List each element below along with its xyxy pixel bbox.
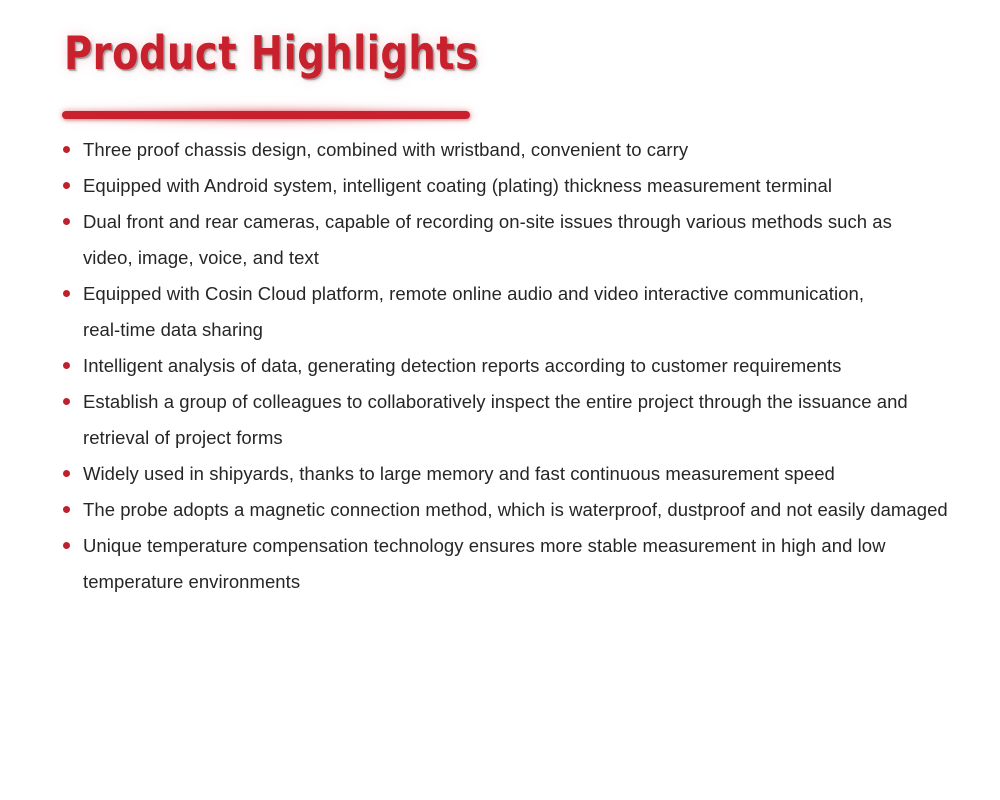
- title-underline-bar: [62, 111, 470, 119]
- page-title: Product Highlights: [64, 24, 479, 82]
- list-item-label: Widely used in shipyards, thanks to larg…: [83, 456, 963, 492]
- list-item-label: Equipped with Android system, intelligen…: [83, 168, 943, 204]
- bullet-dot-icon: [63, 146, 70, 153]
- bullet-dot-icon: [63, 182, 70, 189]
- list-item: Unique temperature compensation technolo…: [62, 528, 982, 600]
- list-item: Establish a group of colleagues to colla…: [62, 384, 982, 456]
- list-item-label: Intelligent analysis of data, generating…: [83, 348, 903, 384]
- bullet-dot-icon: [63, 362, 70, 369]
- list-item: Equipped with Cosin Cloud platform, remo…: [62, 276, 982, 348]
- list-item-label: Three proof chassis design, combined wit…: [83, 132, 963, 168]
- bullet-dot-icon: [63, 218, 70, 225]
- bullet-dot-icon: [63, 398, 70, 405]
- list-item-label: Establish a group of colleagues to colla…: [83, 384, 978, 456]
- bullet-dot-icon: [63, 506, 70, 513]
- bullet-dot-icon: [63, 290, 70, 297]
- list-item: Dual front and rear cameras, capable of …: [62, 204, 982, 276]
- title-block: Product Highlights: [62, 24, 622, 114]
- list-item: Intelligent analysis of data, generating…: [62, 348, 982, 384]
- list-item-label: Dual front and rear cameras, capable of …: [83, 204, 923, 276]
- list-item: Equipped with Android system, intelligen…: [62, 168, 982, 204]
- list-item: Widely used in shipyards, thanks to larg…: [62, 456, 982, 492]
- list-item-label: Equipped with Cosin Cloud platform, remo…: [83, 276, 898, 348]
- list-item: Three proof chassis design, combined wit…: [62, 132, 982, 168]
- bullet-dot-icon: [63, 542, 70, 549]
- highlights-list: Three proof chassis design, combined wit…: [62, 132, 982, 600]
- slide-canvas: Product Highlights Three proof chassis d…: [0, 0, 1000, 800]
- list-item-label: Unique temperature compensation technolo…: [83, 528, 963, 600]
- bullet-dot-icon: [63, 470, 70, 477]
- list-item-label: The probe adopts a magnetic connection m…: [83, 492, 973, 528]
- list-item: The probe adopts a magnetic connection m…: [62, 492, 982, 528]
